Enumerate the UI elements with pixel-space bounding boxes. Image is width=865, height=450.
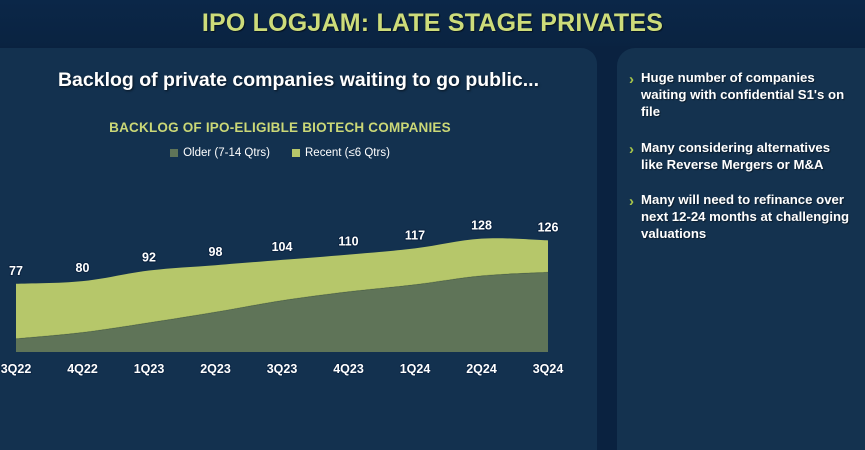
x-axis-label: 4Q22: [67, 362, 98, 376]
bullet-item: › Many considering alternatives like Rev…: [629, 140, 851, 174]
legend-item-recent[interactable]: Recent (≤6 Qtrs): [292, 147, 390, 159]
bullet-text: Huge number of companies waiting with co…: [641, 70, 851, 121]
bullet-item: › Huge number of companies waiting with …: [629, 70, 851, 121]
data-label: 98: [209, 245, 223, 259]
data-label: 110: [338, 235, 358, 249]
takeaways-panel: › Huge number of companies waiting with …: [617, 48, 865, 450]
data-label: 128: [471, 219, 492, 233]
data-label: 77: [9, 264, 23, 278]
legend-item-older[interactable]: Older (7-14 Qtrs): [170, 147, 270, 159]
x-axis-label: 1Q23: [134, 362, 165, 376]
bullet-text: Many considering alternatives like Rever…: [641, 140, 851, 174]
x-axis-label: 3Q22: [1, 362, 32, 376]
chart-legend: Older (7-14 Qtrs) Recent (≤6 Qtrs): [0, 147, 560, 159]
chart-svg: 778092981041101171281263Q224Q221Q232Q233…: [0, 166, 597, 386]
panel-subtitle: Backlog of private companies waiting to …: [0, 69, 597, 92]
bullet-item: › Many will need to refinance over next …: [629, 192, 851, 243]
data-label: 104: [272, 240, 293, 254]
legend-swatch-recent: [292, 149, 300, 157]
chevron-right-icon: ›: [629, 70, 634, 89]
legend-label-older: Older (7-14 Qtrs): [183, 147, 270, 159]
x-axis-label: 1Q24: [400, 362, 431, 376]
chevron-right-icon: ›: [629, 192, 634, 211]
bullet-text: Many will need to refinance over next 12…: [641, 192, 851, 243]
title-bar: IPO LOGJAM: LATE STAGE PRIVATES: [0, 0, 865, 46]
data-label: 126: [538, 220, 559, 234]
legend-swatch-older: [170, 149, 178, 157]
x-axis-label: 3Q23: [267, 362, 298, 376]
chevron-right-icon: ›: [629, 140, 634, 159]
data-label: 117: [405, 228, 425, 242]
x-axis-label: 4Q23: [333, 362, 364, 376]
x-axis-label: 2Q23: [200, 362, 231, 376]
page-title: IPO LOGJAM: LATE STAGE PRIVATES: [202, 9, 663, 38]
x-axis-label: 2Q24: [466, 362, 497, 376]
x-axis-label: 3Q24: [533, 362, 564, 376]
stacked-area-chart: 778092981041101171281263Q224Q221Q232Q233…: [0, 166, 597, 386]
chart-title: BACKLOG OF IPO-ELIGIBLE BIOTECH COMPANIE…: [0, 120, 560, 135]
chart-panel: Backlog of private companies waiting to …: [0, 48, 597, 450]
legend-label-recent: Recent (≤6 Qtrs): [305, 147, 390, 159]
data-label: 92: [142, 251, 156, 265]
data-label: 80: [76, 261, 90, 275]
